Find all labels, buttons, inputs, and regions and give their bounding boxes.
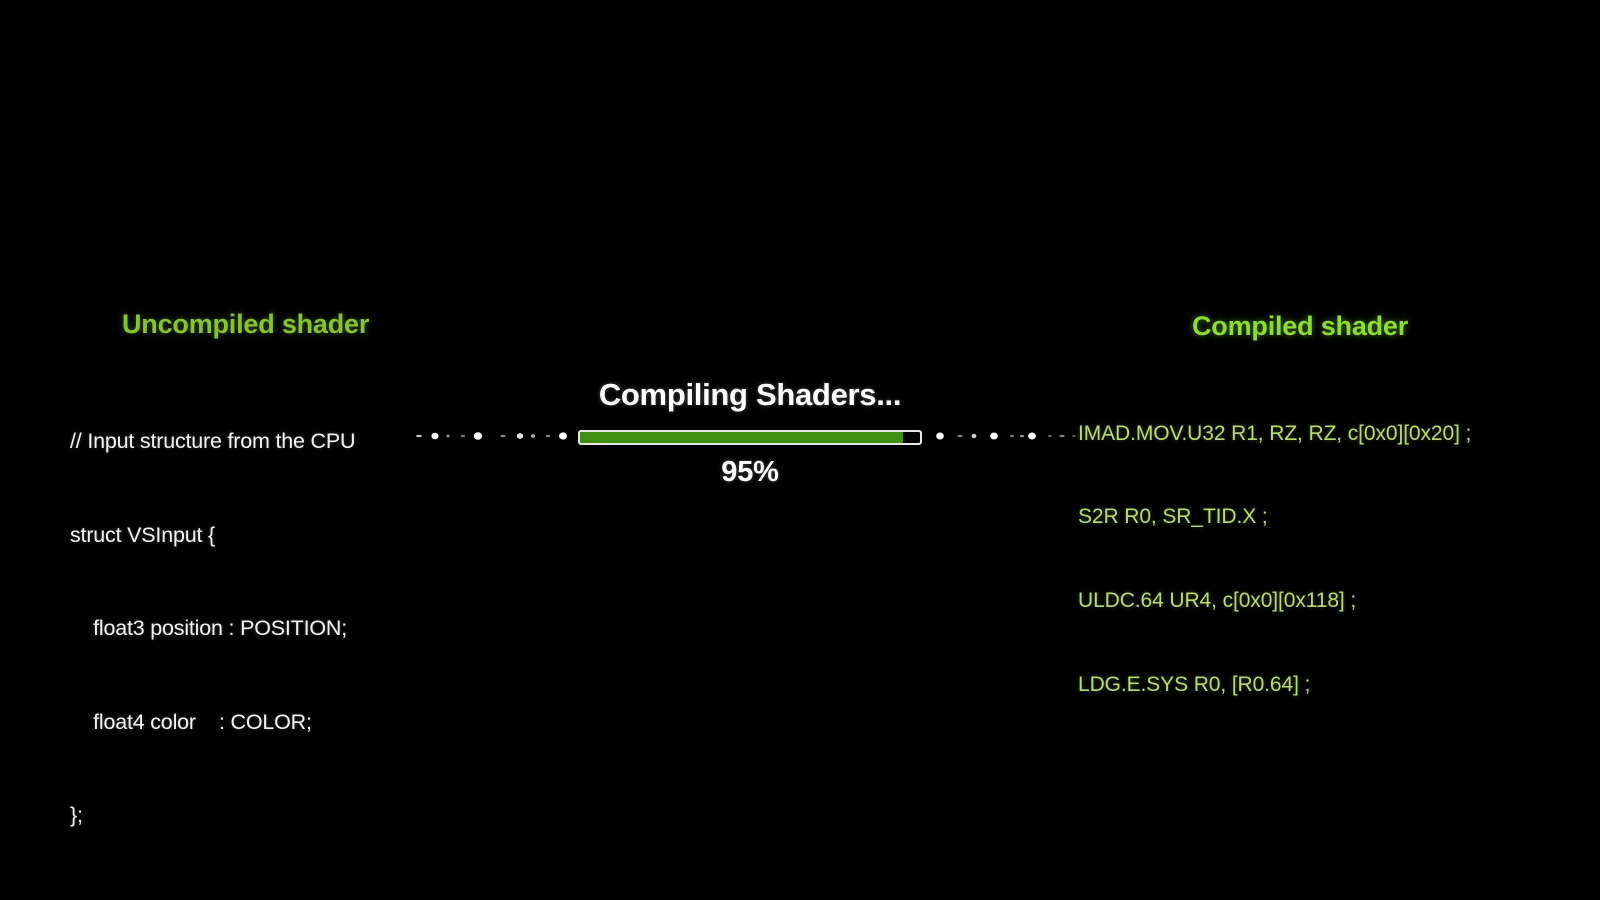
- dotted-line-right: [932, 429, 1078, 443]
- dotted-line-left: [415, 429, 575, 443]
- connector-dot: [559, 432, 567, 439]
- connector-dot: [958, 435, 963, 437]
- uncompiled-shader-code-block: // Input structure from the CPU struct V…: [70, 364, 490, 894]
- connector-dot: [474, 432, 482, 440]
- code-line: ULDC.64 UR4, c[0x0][0x118] ;: [1078, 587, 1578, 615]
- dotted-line-left-icon: [415, 429, 575, 443]
- compiled-shader-heading: Compiled shader: [1192, 312, 1578, 342]
- screen-background: Uncompiled shader // Input structure fro…: [0, 0, 1600, 900]
- compiled-shader-panel: Compiled shader IMAD.MOV.U32 R1, RZ, RZ,…: [1078, 312, 1578, 755]
- dotted-line-right-icon: [932, 429, 1078, 443]
- connector-dot: [531, 434, 535, 437]
- compiling-status-label: Compiling Shaders...: [550, 378, 950, 412]
- code-line: S2R R0, SR_TID.X ;: [1078, 503, 1578, 531]
- progress-bar-fill: [580, 432, 903, 443]
- connector-dot: [446, 435, 449, 438]
- connector-dot: [1028, 433, 1036, 440]
- connector-dot: [546, 435, 550, 437]
- connector-dot: [1072, 435, 1075, 437]
- uncompiled-shader-heading: Uncompiled shader: [122, 310, 490, 340]
- connector-dot: [500, 435, 505, 437]
- uncompiled-shader-panel: Uncompiled shader // Input structure fro…: [70, 310, 490, 894]
- connector-dot: [936, 433, 944, 440]
- connector-dot: [517, 433, 523, 439]
- progress-percent-label: 95%: [550, 456, 950, 489]
- compiling-progress-panel: Compiling Shaders... 95%: [550, 378, 950, 412]
- connector-dot: [1010, 435, 1014, 437]
- connector-dot: [416, 435, 422, 438]
- code-line: };: [70, 800, 490, 831]
- connector-dot: [1020, 435, 1024, 438]
- code-line: float4 color : COLOR;: [70, 707, 490, 738]
- connector-dot: [990, 433, 998, 440]
- progress-bar-track: [578, 430, 922, 445]
- connector-dot: [431, 433, 438, 440]
- code-line: LDG.E.SYS R0, [R0.64] ;: [1078, 671, 1578, 699]
- connector-dot: [461, 435, 465, 437]
- code-line: float3 position : POSITION;: [70, 613, 490, 644]
- compiled-shader-code-block: IMAD.MOV.U32 R1, RZ, RZ, c[0x0][0x20] ; …: [1078, 364, 1578, 755]
- connector-dot: [1059, 435, 1064, 437]
- connector-dot: [972, 434, 977, 438]
- code-line: struct VSInput {: [70, 520, 490, 551]
- connector-dot: [1048, 435, 1052, 437]
- code-line: IMAD.MOV.U32 R1, RZ, RZ, c[0x0][0x20] ;: [1078, 420, 1578, 448]
